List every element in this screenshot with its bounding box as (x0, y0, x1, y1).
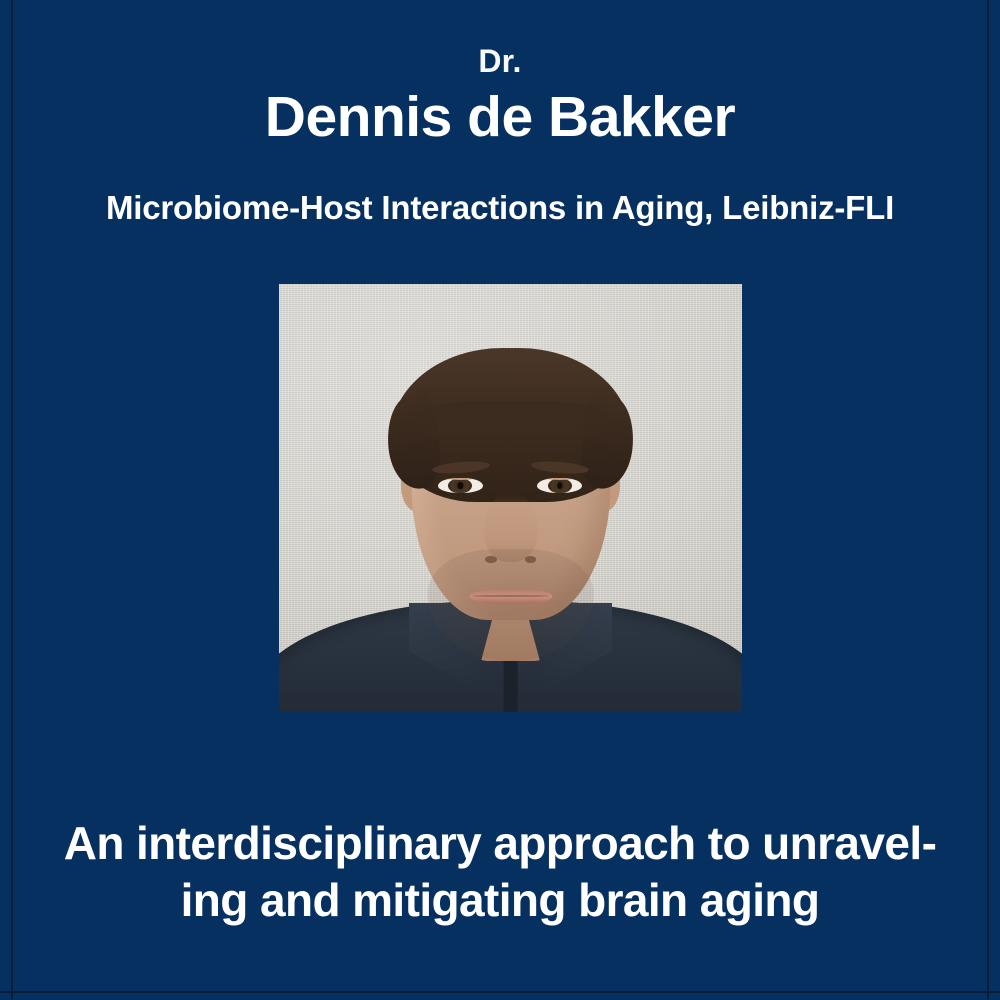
portrait-iris-right (548, 478, 572, 493)
portrait-iris-left (448, 478, 472, 493)
talk-title: An interdisciplinary approach to unravel… (30, 815, 970, 929)
speaker-salutation: Dr. (0, 0, 1000, 80)
portrait-pupil-left (458, 482, 463, 488)
speaker-announcement-slide: Dr. Dennis de Bakker Microbiome-Host Int… (0, 0, 1000, 1000)
speaker-affiliation: Microbiome-Host Interactions in Aging, L… (0, 149, 1000, 227)
speaker-portrait (279, 284, 742, 712)
portrait-hair-fringe (411, 402, 610, 445)
frame-line-bottom (0, 991, 1000, 993)
portrait-shirt-placket (503, 661, 518, 712)
speaker-header: Dr. Dennis de Bakker Microbiome-Host Int… (0, 0, 1000, 226)
portrait-image (279, 284, 742, 712)
portrait-eye-right (537, 478, 581, 493)
portrait-eye-left (438, 478, 482, 493)
talk-title-line-1: An interdisciplinary approach to unravel… (30, 815, 970, 872)
portrait-pupil-right (557, 482, 562, 488)
portrait-mouth (469, 590, 552, 605)
speaker-name: Dennis de Bakker (0, 80, 1000, 149)
talk-title-line-2: ing and mitigating brain aging (30, 872, 970, 929)
